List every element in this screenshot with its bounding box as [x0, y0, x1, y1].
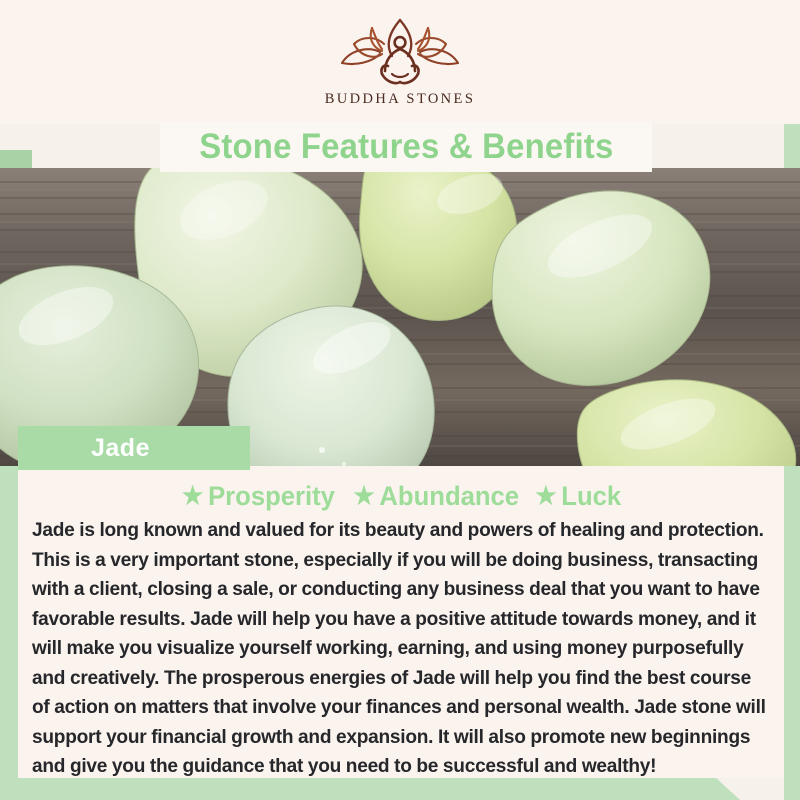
star-icon: ★ — [536, 484, 557, 509]
brand-name: BUDDHA STONES — [325, 91, 476, 108]
benefits-list: ★ Prosperity ★ Abundance ★ Luck — [30, 478, 772, 514]
benefit-label: Prosperity — [208, 481, 335, 512]
stone-name-badge: Jade — [18, 426, 250, 470]
star-icon: ★ — [182, 484, 203, 509]
stone-name: Jade — [91, 434, 150, 463]
benefit-item-abundance: ★ Abundance — [353, 481, 519, 512]
benefit-label: Abundance — [379, 481, 519, 512]
stone-info-card: BUDDHA STONES Stone Features & Benefits — [0, 0, 800, 800]
section-title-banner: Stone Features & Benefits — [160, 122, 652, 172]
benefit-item-prosperity: ★ Prosperity — [182, 481, 335, 512]
frame-left-notch — [0, 150, 32, 170]
brand-header: BUDDHA STONES — [0, 0, 800, 124]
star-icon: ★ — [353, 484, 374, 509]
description-panel: ★ Prosperity ★ Abundance ★ Luck Jade is … — [18, 466, 784, 778]
lotus-meditation-icon — [330, 16, 470, 88]
page-title: Stone Features & Benefits — [199, 127, 613, 167]
benefit-item-luck: ★ Luck — [536, 481, 622, 512]
stone-description: Jade is long known and valued for its be… — [30, 516, 772, 782]
benefit-label: Luck — [562, 481, 622, 512]
stone-photo — [0, 168, 800, 466]
